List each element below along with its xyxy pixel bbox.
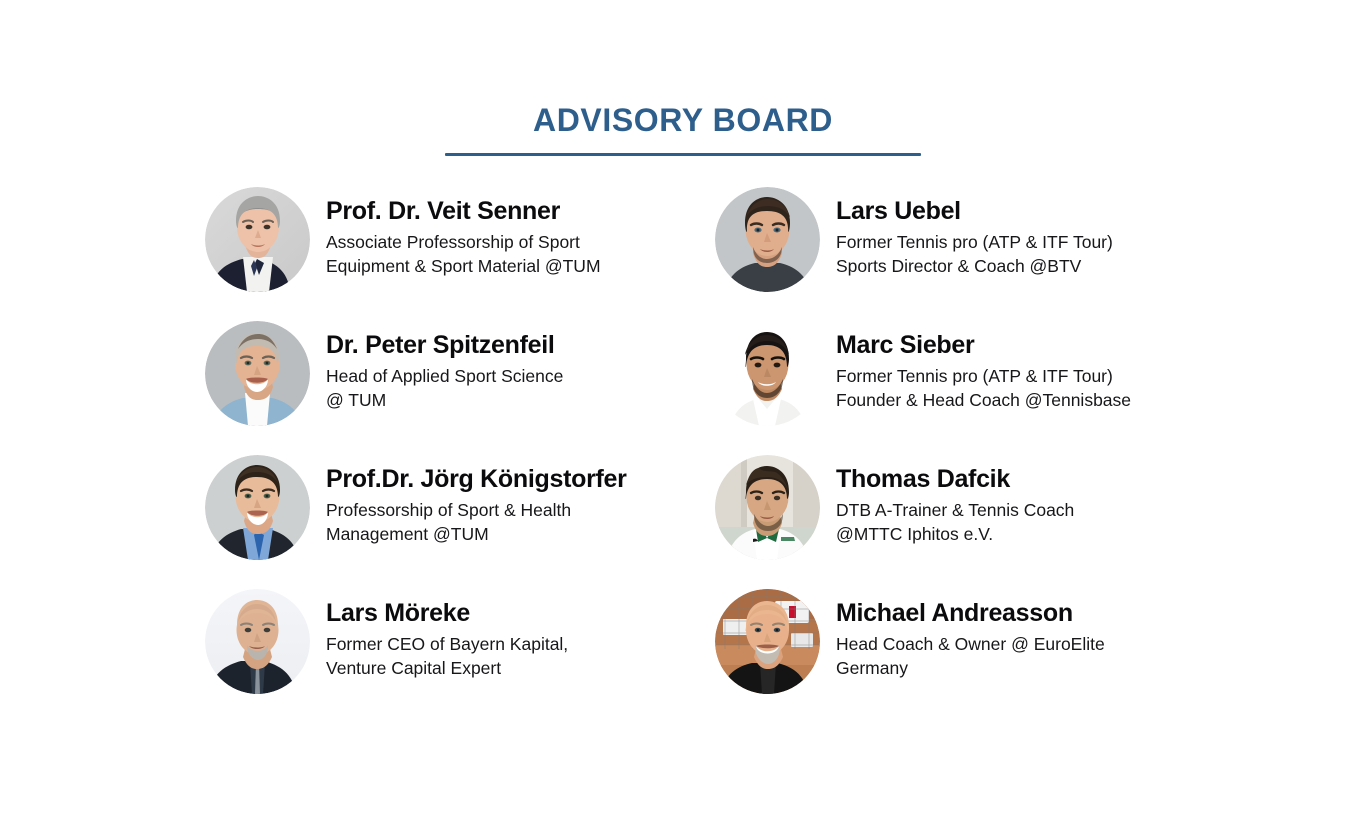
- member-role: DTB A-Trainer & Tennis Coach @MTTC Iphit…: [836, 498, 1074, 546]
- member-role-line-2: @MTTC Iphitos e.V.: [836, 522, 1074, 546]
- member-role-line-2: Germany: [836, 656, 1105, 680]
- member-role-line-1: Former Tennis pro (ATP & ITF Tour): [836, 364, 1131, 388]
- member-name: Marc Sieber: [836, 330, 1131, 360]
- portrait-michael-andreasson-icon: [715, 589, 820, 694]
- member-text: Thomas Dafcik DTB A-Trainer & Tennis Coa…: [836, 452, 1074, 546]
- member-text: Michael Andreasson Head Coach & Owner @ …: [836, 586, 1105, 680]
- member-role-line-1: DTB A-Trainer & Tennis Coach: [836, 498, 1074, 522]
- member-role-line-1: Professorship of Sport & Health: [326, 498, 627, 522]
- board-member-card: Michael Andreasson Head Coach & Owner @ …: [715, 586, 1205, 720]
- member-role: Former Tennis pro (ATP & ITF Tour) Sport…: [836, 230, 1113, 278]
- member-role-line-2: Sports Director & Coach @BTV: [836, 254, 1113, 278]
- member-role-line-1: Associate Professorship of Sport: [326, 230, 601, 254]
- portrait-peter-spitzenfeil-icon: [205, 321, 310, 426]
- member-role-line-2: Equipment & Sport Material @TUM: [326, 254, 601, 278]
- member-role: Former CEO of Bayern Kapital, Venture Ca…: [326, 632, 568, 680]
- portrait-veit-senner-icon: [205, 187, 310, 292]
- member-name: Thomas Dafcik: [836, 464, 1074, 494]
- board-member-card: Prof. Dr. Veit Senner Associate Professo…: [205, 184, 695, 318]
- member-role: Head Coach & Owner @ EuroElite Germany: [836, 632, 1105, 680]
- member-text: Lars Uebel Former Tennis pro (ATP & ITF …: [836, 184, 1113, 278]
- page-title: ADVISORY BOARD: [0, 100, 1366, 140]
- avatar: [205, 455, 310, 560]
- portrait-marc-sieber-icon: [715, 321, 820, 426]
- member-text: Prof. Dr. Veit Senner Associate Professo…: [326, 184, 601, 278]
- member-role-line-1: Head of Applied Sport Science: [326, 364, 563, 388]
- member-role: Former Tennis pro (ATP & ITF Tour) Found…: [836, 364, 1131, 412]
- member-role-line-1: Former CEO of Bayern Kapital,: [326, 632, 568, 656]
- member-name: Michael Andreasson: [836, 598, 1105, 628]
- member-name: Lars Möreke: [326, 598, 568, 628]
- member-text: Dr. Peter Spitzenfeil Head of Applied Sp…: [326, 318, 563, 412]
- member-role-line-2: @ TUM: [326, 388, 563, 412]
- member-role-line-2: Management @TUM: [326, 522, 627, 546]
- avatar: [715, 321, 820, 426]
- board-member-card: Lars Uebel Former Tennis pro (ATP & ITF …: [715, 184, 1205, 318]
- member-name: Lars Uebel: [836, 196, 1113, 226]
- member-role-line-2: Founder & Head Coach @Tennisbase: [836, 388, 1131, 412]
- board-member-card: Marc Sieber Former Tennis pro (ATP & ITF…: [715, 318, 1205, 452]
- member-name: Prof.Dr. Jörg Königstorfer: [326, 464, 627, 494]
- board-member-card: Prof.Dr. Jörg Königstorfer Professorship…: [205, 452, 695, 586]
- member-role-line-2: Venture Capital Expert: [326, 656, 568, 680]
- board-member-card: Thomas Dafcik DTB A-Trainer & Tennis Coa…: [715, 452, 1205, 586]
- member-text: Prof.Dr. Jörg Königstorfer Professorship…: [326, 452, 627, 546]
- portrait-lars-uebel-icon: [715, 187, 820, 292]
- avatar: [715, 455, 820, 560]
- title-underline: [445, 153, 921, 156]
- avatar: [715, 589, 820, 694]
- portrait-joerg-koenigstorfer-icon: [205, 455, 310, 560]
- avatar: [205, 589, 310, 694]
- avatar: [715, 187, 820, 292]
- portrait-lars-moereke-icon: [205, 589, 310, 694]
- member-role: Head of Applied Sport Science @ TUM: [326, 364, 563, 412]
- member-role: Associate Professorship of Sport Equipme…: [326, 230, 601, 278]
- member-role-line-1: Head Coach & Owner @ EuroElite: [836, 632, 1105, 656]
- member-text: Lars Möreke Former CEO of Bayern Kapital…: [326, 586, 568, 680]
- advisory-board-grid: Prof. Dr. Veit Senner Associate Professo…: [205, 184, 1205, 720]
- board-member-card: Dr. Peter Spitzenfeil Head of Applied Sp…: [205, 318, 695, 452]
- member-name: Dr. Peter Spitzenfeil: [326, 330, 563, 360]
- member-name: Prof. Dr. Veit Senner: [326, 196, 601, 226]
- board-member-card: Lars Möreke Former CEO of Bayern Kapital…: [205, 586, 695, 720]
- portrait-thomas-dafcik-icon: [715, 455, 820, 560]
- title-block: ADVISORY BOARD: [0, 100, 1366, 156]
- advisory-board-slide: ADVISORY BOARD: [0, 0, 1366, 831]
- member-text: Marc Sieber Former Tennis pro (ATP & ITF…: [836, 318, 1131, 412]
- member-role-line-1: Former Tennis pro (ATP & ITF Tour): [836, 230, 1113, 254]
- member-role: Professorship of Sport & Health Manageme…: [326, 498, 627, 546]
- avatar: [205, 187, 310, 292]
- avatar: [205, 321, 310, 426]
